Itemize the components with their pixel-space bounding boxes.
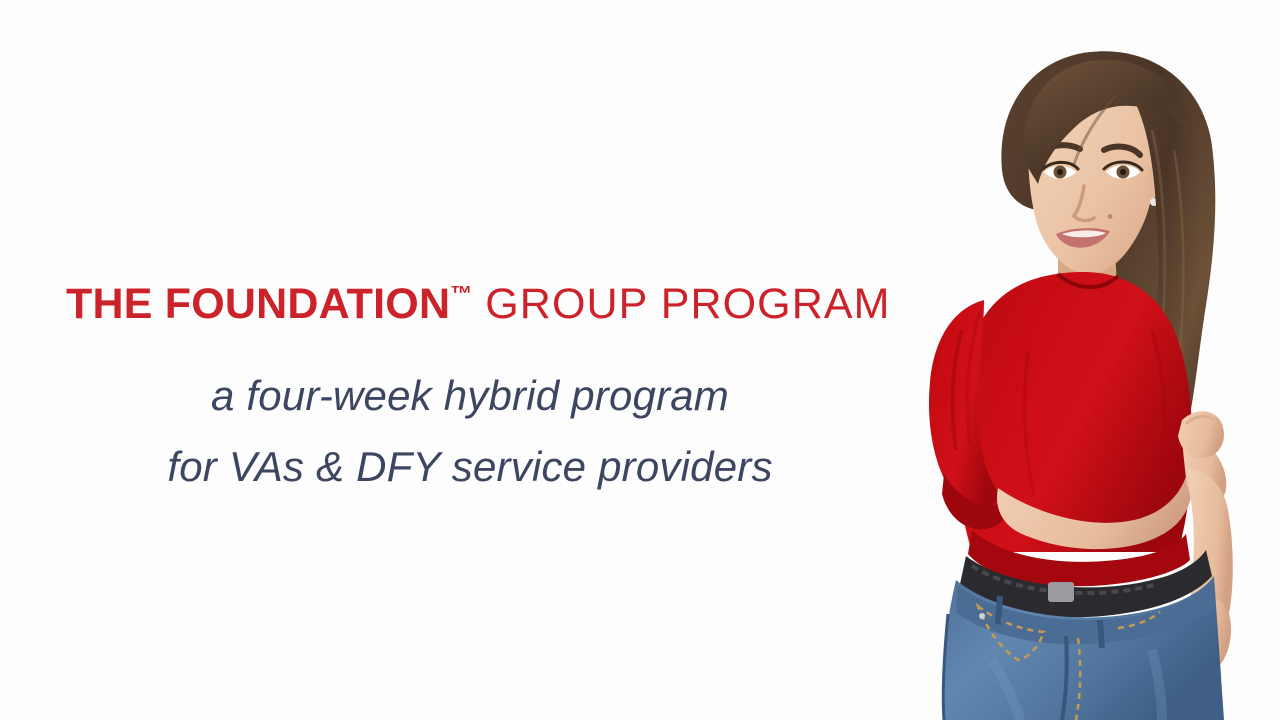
subtitle-line-2: for VAs & DFY service providers (0, 431, 940, 502)
page-title: THE FOUNDATION™ GROUP PROGRAM (66, 268, 891, 330)
presenter-illustration (852, 0, 1280, 720)
belt-loop-2 (1100, 620, 1102, 648)
belt-buckle (1048, 582, 1074, 602)
belt-loop-1 (998, 596, 1000, 624)
slide-canvas: THE FOUNDATION™ GROUP PROGRAM a four-wee… (0, 0, 1280, 720)
cheek-mole (1108, 214, 1113, 219)
subtitle-line-1: a four-week hybrid program (0, 360, 940, 431)
subtitle: a four-week hybrid program for VAs & DFY… (0, 360, 940, 502)
headline-strong: THE FOUNDATION (66, 280, 450, 328)
pupil-left (1057, 169, 1063, 175)
presenter-photo (852, 0, 1280, 720)
trademark-symbol: ™ (450, 281, 472, 306)
rivet-1 (979, 613, 985, 619)
text-block: THE FOUNDATION™ GROUP PROGRAM a four-wee… (0, 268, 940, 498)
headline-light: GROUP PROGRAM (472, 280, 890, 328)
pupil-right (1120, 169, 1126, 175)
